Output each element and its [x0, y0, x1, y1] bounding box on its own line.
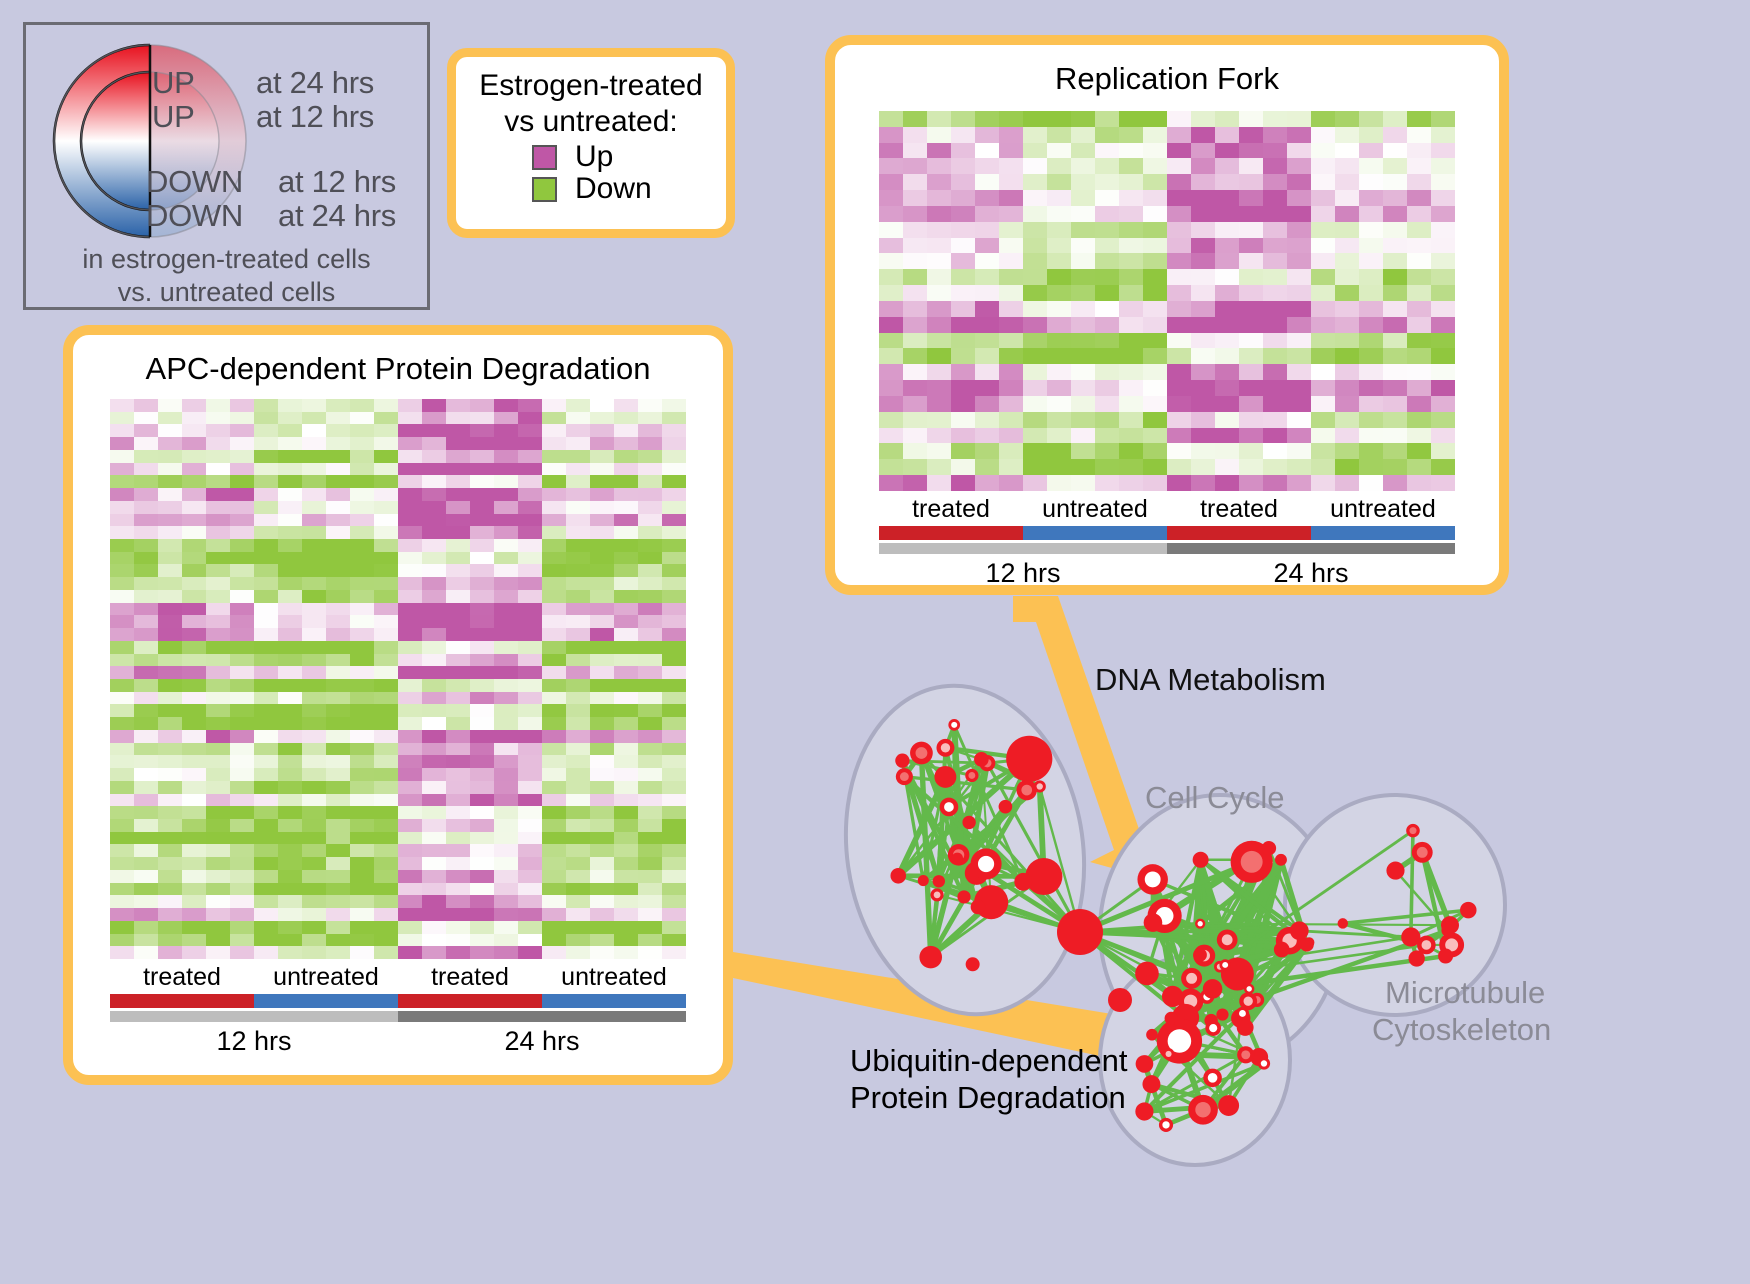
heatmap-cell [446, 934, 470, 947]
heatmap-cell [1215, 285, 1239, 301]
heatmap-cell [1167, 238, 1191, 254]
heatmap-cell [398, 399, 422, 412]
heatmap-cell [1119, 333, 1143, 349]
heatmap-cell [1167, 285, 1191, 301]
network-node[interactable] [1135, 1102, 1153, 1120]
heatmap-cell [927, 396, 951, 412]
heatmap-cell [1095, 380, 1119, 396]
heatmap-cell [470, 615, 494, 628]
heatmap-cell [230, 654, 254, 667]
network-node[interactable] [1409, 950, 1425, 966]
heatmap-cell [398, 424, 422, 437]
heatmap-cell [110, 590, 134, 603]
network-node[interactable] [1162, 986, 1183, 1007]
heatmap-cell [1407, 253, 1431, 269]
heatmap-cell [1143, 222, 1167, 238]
network-node[interactable] [962, 816, 975, 829]
heatmap-cell [182, 794, 206, 807]
network-node[interactable] [1174, 1016, 1185, 1027]
network-node[interactable] [1386, 862, 1404, 880]
heatmap-cell [326, 806, 350, 819]
heatmap-cell [422, 539, 446, 552]
heatmap-cell [302, 424, 326, 437]
heatmap-cell [398, 857, 422, 870]
network-node[interactable] [919, 946, 942, 969]
heatmap-cell [1023, 253, 1047, 269]
heatmap-cell [879, 412, 903, 428]
network-node[interactable] [1401, 927, 1420, 946]
network-node[interactable] [1275, 854, 1287, 866]
heatmap-cell [350, 883, 374, 896]
heatmap-cell [927, 475, 951, 491]
network-node[interactable] [1057, 909, 1103, 955]
heatmap-cell [206, 704, 230, 717]
heatmap-cell [206, 539, 230, 552]
heatmap-cell [134, 857, 158, 870]
heatmap-cell [662, 539, 686, 552]
network-node[interactable] [1237, 1019, 1254, 1036]
heatmap-cell [446, 412, 470, 425]
heatmap-cell [494, 679, 518, 692]
heatmap-cell [302, 590, 326, 603]
network-node-core [1208, 1073, 1218, 1083]
heatmap-cell [302, 564, 326, 577]
heatmap-cell [1023, 475, 1047, 491]
heatmap-cell [1335, 127, 1359, 143]
heatmap-cell [278, 794, 302, 807]
network-node[interactable] [1142, 1075, 1160, 1093]
heatmap-cell [518, 806, 542, 819]
heatmap-cell [470, 424, 494, 437]
heatmap-cell [542, 857, 566, 870]
heatmap-cell [1359, 348, 1383, 364]
heatmap-cell [206, 424, 230, 437]
network-node-core [916, 747, 928, 759]
heatmap-cell [1215, 412, 1239, 428]
network-node[interactable] [1146, 1029, 1158, 1041]
heatmap-cell [518, 475, 542, 488]
network-node[interactable] [934, 766, 956, 788]
heatmap-cell [230, 615, 254, 628]
heatmap-cell [278, 514, 302, 527]
heatmap-cell [422, 615, 446, 628]
heatmap-cell [1263, 317, 1287, 333]
network-node[interactable] [957, 890, 970, 903]
heatmap-cell [638, 666, 662, 679]
heatmap-cell [1359, 443, 1383, 459]
heatmap-cell [662, 946, 686, 959]
heatmap-cell [590, 628, 614, 641]
heatmap-cell [206, 883, 230, 896]
heatmap-cell [374, 781, 398, 794]
heatmap-cell [446, 437, 470, 450]
heatmap-cell [1191, 380, 1215, 396]
network-node[interactable] [1136, 1055, 1154, 1073]
network-node[interactable] [933, 875, 945, 887]
heatmap-cell [1071, 333, 1095, 349]
heatmap-cell [134, 412, 158, 425]
heatmap-cell [542, 806, 566, 819]
heatmap-cell [518, 895, 542, 908]
heatmap-cell [326, 704, 350, 717]
heatmap-cell [110, 832, 134, 845]
network-node-core [1244, 997, 1253, 1006]
expression-ring-legend: UP at 24 hrs UP at 12 hrs DOWN at 12 hrs… [23, 22, 430, 310]
heatmap-cell [110, 399, 134, 412]
heatmap-cell [975, 143, 999, 159]
heatmap-cell [254, 679, 278, 692]
rf-sample-labels: treated untreated treated untreated [879, 495, 1455, 524]
heatmap-cell [662, 666, 686, 679]
heatmap-cell [1071, 443, 1095, 459]
heatmap-cell [975, 475, 999, 491]
heatmap-cell [542, 743, 566, 756]
heatmap-cell [1023, 206, 1047, 222]
heatmap-cell [1359, 285, 1383, 301]
heatmap-cell [542, 590, 566, 603]
heatmap-cell [182, 679, 206, 692]
heatmap-cell [1119, 238, 1143, 254]
heatmap-cell [999, 190, 1023, 206]
heatmap-cell [110, 424, 134, 437]
heatmap-cell [134, 475, 158, 488]
heatmap-cell [398, 615, 422, 628]
network-node-core [1409, 827, 1416, 834]
network-node[interactable] [918, 875, 929, 886]
network-node[interactable] [1006, 736, 1052, 782]
heatmap-cell [1359, 253, 1383, 269]
network-node-core [1239, 1010, 1246, 1017]
heatmap-cell [590, 564, 614, 577]
heatmap-cell [662, 921, 686, 934]
heatmap-cell [350, 692, 374, 705]
heatmap-cell [590, 424, 614, 437]
heatmap-cell [470, 717, 494, 730]
heatmap-cell [1047, 127, 1071, 143]
network-node[interactable] [1338, 918, 1348, 928]
heatmap-cell [206, 603, 230, 616]
heatmap-cell [590, 921, 614, 934]
heatmap-cell [614, 883, 638, 896]
heatmap-cell [1407, 380, 1431, 396]
heatmap-cell [446, 666, 470, 679]
heatmap-cell [662, 463, 686, 476]
heatmap-cell [158, 717, 182, 730]
heatmap-cell [542, 921, 566, 934]
heatmap-cell [1047, 348, 1071, 364]
heatmap-cell [254, 946, 278, 959]
heatmap-cell [278, 883, 302, 896]
network-node[interactable] [1262, 841, 1276, 855]
heatmap-cell [230, 755, 254, 768]
heatmap-cell [422, 399, 446, 412]
heatmap-cell [1239, 364, 1263, 380]
heatmap-cell [182, 819, 206, 832]
heatmap-cell [374, 857, 398, 870]
heatmap-cell [326, 794, 350, 807]
heatmap-cell [518, 463, 542, 476]
heatmap-cell [1215, 158, 1239, 174]
heatmap-cell [158, 399, 182, 412]
heatmap-cell [1431, 396, 1455, 412]
heatmap-cell [1047, 459, 1071, 475]
heatmap-cell [1407, 475, 1431, 491]
network-node-core [951, 722, 957, 728]
heatmap-cell [278, 768, 302, 781]
heatmap-cell [422, 564, 446, 577]
heatmap-cell [951, 158, 975, 174]
heatmap-cell [1287, 364, 1311, 380]
heatmap-cell [638, 692, 662, 705]
heatmap-cell [1095, 396, 1119, 412]
heatmap-cell [182, 946, 206, 959]
heatmap-cell [398, 666, 422, 679]
heatmap-cell [494, 832, 518, 845]
heatmap-cell [1335, 190, 1359, 206]
heatmap-cell [398, 564, 422, 577]
heatmap-cell [614, 463, 638, 476]
heatmap-cell [422, 463, 446, 476]
heatmap-cell [927, 459, 951, 475]
heatmap-cell [158, 743, 182, 756]
heatmap-cell [182, 615, 206, 628]
heatmap-cell [398, 895, 422, 908]
network-node[interactable] [890, 868, 906, 884]
heatmap-cell [927, 443, 951, 459]
heatmap-cell [879, 317, 903, 333]
heatmap-cell [1095, 301, 1119, 317]
heatmap-cell [1191, 333, 1215, 349]
heatmap-cell [134, 552, 158, 565]
heatmap-cell [518, 730, 542, 743]
heatmap-cell [518, 755, 542, 768]
network-node[interactable] [1290, 921, 1309, 940]
heatmap-cell [206, 590, 230, 603]
heatmap-cell [1023, 428, 1047, 444]
heatmap-cell [1335, 333, 1359, 349]
heatmap-cell [254, 704, 278, 717]
heatmap-cell [1359, 317, 1383, 333]
heatmap-cell [1335, 253, 1359, 269]
heatmap-cell [1191, 301, 1215, 317]
heatmap-cell [1287, 206, 1311, 222]
heatmap-cell [518, 628, 542, 641]
heatmap-cell [1359, 190, 1383, 206]
heatmap-cell [518, 794, 542, 807]
heatmap-cell [879, 348, 903, 364]
heatmap-cell [566, 946, 590, 959]
heatmap-cell [614, 781, 638, 794]
heatmap-cell [1023, 412, 1047, 428]
heatmap-cell [110, 806, 134, 819]
heatmap-cell [254, 921, 278, 934]
heatmap-cell [254, 654, 278, 667]
heatmap-cell [350, 895, 374, 908]
network-node[interactable] [1460, 902, 1476, 918]
heatmap-cell [566, 552, 590, 565]
heatmap-cell [1047, 253, 1071, 269]
heatmap-cell [446, 768, 470, 781]
legend-label-up: Up [575, 142, 613, 172]
heatmap-cell [518, 437, 542, 450]
heatmap-cell [1407, 238, 1431, 254]
heatmap-cell [446, 717, 470, 730]
heatmap-cell [1335, 348, 1359, 364]
heatmap-cell [374, 883, 398, 896]
heatmap-cell [879, 206, 903, 222]
heatmap-cell [1023, 301, 1047, 317]
heatmap-cell [470, 908, 494, 921]
network-node[interactable] [1218, 1095, 1239, 1116]
network-node[interactable] [1135, 962, 1159, 986]
network-node[interactable] [1441, 924, 1454, 937]
heatmap-cell [182, 463, 206, 476]
network-node[interactable] [1025, 858, 1062, 895]
heatmap-cell [470, 628, 494, 641]
network-node[interactable] [1438, 949, 1453, 964]
cluster-label-ubiquitin-line1: Ubiquitin-dependent [850, 1042, 1128, 1079]
heatmap-cell [158, 934, 182, 947]
heatmap-cell [398, 934, 422, 947]
heatmap-cell [1311, 364, 1335, 380]
network-node[interactable] [974, 752, 989, 767]
heatmap-cell [254, 717, 278, 730]
heatmap-cell [230, 564, 254, 577]
network-node[interactable] [1144, 913, 1163, 932]
heatmap-cell [927, 380, 951, 396]
heatmap-cell [927, 206, 951, 222]
heatmap-cell [638, 883, 662, 896]
heatmap-cell [230, 794, 254, 807]
heatmap-cell [638, 552, 662, 565]
heatmap-cell [1071, 301, 1095, 317]
network-node[interactable] [1300, 938, 1314, 952]
heatmap-cell [999, 428, 1023, 444]
heatmap-cell [566, 857, 590, 870]
heatmap-cell [206, 819, 230, 832]
heatmap-cell [999, 475, 1023, 491]
heatmap-cell [254, 870, 278, 883]
heatmap-cell [1431, 301, 1455, 317]
heatmap-cell [951, 222, 975, 238]
heatmap-cell [1407, 396, 1431, 412]
heatmap-cell [398, 679, 422, 692]
heatmap-cell [566, 832, 590, 845]
network-node[interactable] [971, 900, 986, 915]
heatmap-cell [470, 934, 494, 947]
heatmap-cell [1239, 285, 1263, 301]
ring-time-12-down: at 12 hrs [278, 164, 396, 200]
heatmap-cell [254, 539, 278, 552]
heatmap-cell [278, 730, 302, 743]
heatmap-cell [110, 743, 134, 756]
heatmap-cell [1239, 269, 1263, 285]
network-node[interactable] [1108, 988, 1132, 1012]
heatmap-cell [182, 806, 206, 819]
heatmap-cell [542, 564, 566, 577]
legend-item-down: Down [532, 174, 726, 204]
heatmap-cell [278, 743, 302, 756]
heatmap-cell [518, 781, 542, 794]
heatmap-cell [470, 539, 494, 552]
cluster-label-microtubule-line2: Cytoskeleton [1372, 1012, 1551, 1048]
heatmap-cell [951, 443, 975, 459]
heatmap-cell [230, 399, 254, 412]
network-node-core [1145, 871, 1161, 887]
heatmap-cell [1359, 222, 1383, 238]
heatmap-cell [254, 806, 278, 819]
network-node[interactable] [895, 754, 909, 768]
heatmap-cell [134, 717, 158, 730]
heatmap-cell [951, 317, 975, 333]
heatmap-cell [446, 883, 470, 896]
heatmap-cell [230, 463, 254, 476]
heatmap-cell [927, 269, 951, 285]
heatmap-cell [614, 399, 638, 412]
heatmap-cell [1431, 443, 1455, 459]
heatmap-cell [879, 222, 903, 238]
heatmap-cell [1383, 253, 1407, 269]
heatmap-cell [182, 603, 206, 616]
heatmap-cell [422, 832, 446, 845]
heatmap-cell [182, 832, 206, 845]
heatmap-cell [614, 794, 638, 807]
heatmap-cell [446, 908, 470, 921]
heatmap-cell [494, 590, 518, 603]
heatmap-cell [134, 501, 158, 514]
heatmap-cell [254, 437, 278, 450]
heatmap-cell [134, 603, 158, 616]
heatmap-color-legend: Estrogen-treated vs untreated: Up Down [447, 48, 735, 238]
heatmap-cell [614, 424, 638, 437]
heatmap-cell [518, 450, 542, 463]
network-node[interactable] [1193, 948, 1207, 962]
heatmap-cell [158, 946, 182, 959]
network-node[interactable] [999, 800, 1013, 814]
network-node[interactable] [952, 853, 963, 864]
heatmap-cell [1431, 127, 1455, 143]
heatmap-cell [999, 238, 1023, 254]
heatmap-cell [518, 819, 542, 832]
network-node[interactable] [1203, 979, 1222, 998]
network-node[interactable] [966, 957, 980, 971]
heatmap-cell [206, 794, 230, 807]
heatmap-cell [638, 412, 662, 425]
network-node[interactable] [1216, 1008, 1228, 1020]
heatmap-cell [230, 552, 254, 565]
heatmap-cell [590, 552, 614, 565]
heatmap-cell [470, 475, 494, 488]
heatmap-cell [1263, 269, 1287, 285]
heatmap-cell [590, 475, 614, 488]
heatmap-cell [903, 317, 927, 333]
heatmap-cell [326, 628, 350, 641]
network-node[interactable] [1274, 942, 1290, 958]
heatmap-cell [206, 755, 230, 768]
heatmap-cell [542, 514, 566, 527]
heatmap-cell [1119, 443, 1143, 459]
network-node[interactable] [1193, 852, 1209, 868]
heatmap-cell [1311, 190, 1335, 206]
heatmap-cell [975, 364, 999, 380]
heatmap-cell [638, 641, 662, 654]
heatmap-cell [590, 666, 614, 679]
heatmap-cell [134, 539, 158, 552]
heatmap-cell [326, 781, 350, 794]
network-node[interactable] [1014, 873, 1032, 891]
heatmap-cell [350, 819, 374, 832]
heatmap-cell [110, 921, 134, 934]
